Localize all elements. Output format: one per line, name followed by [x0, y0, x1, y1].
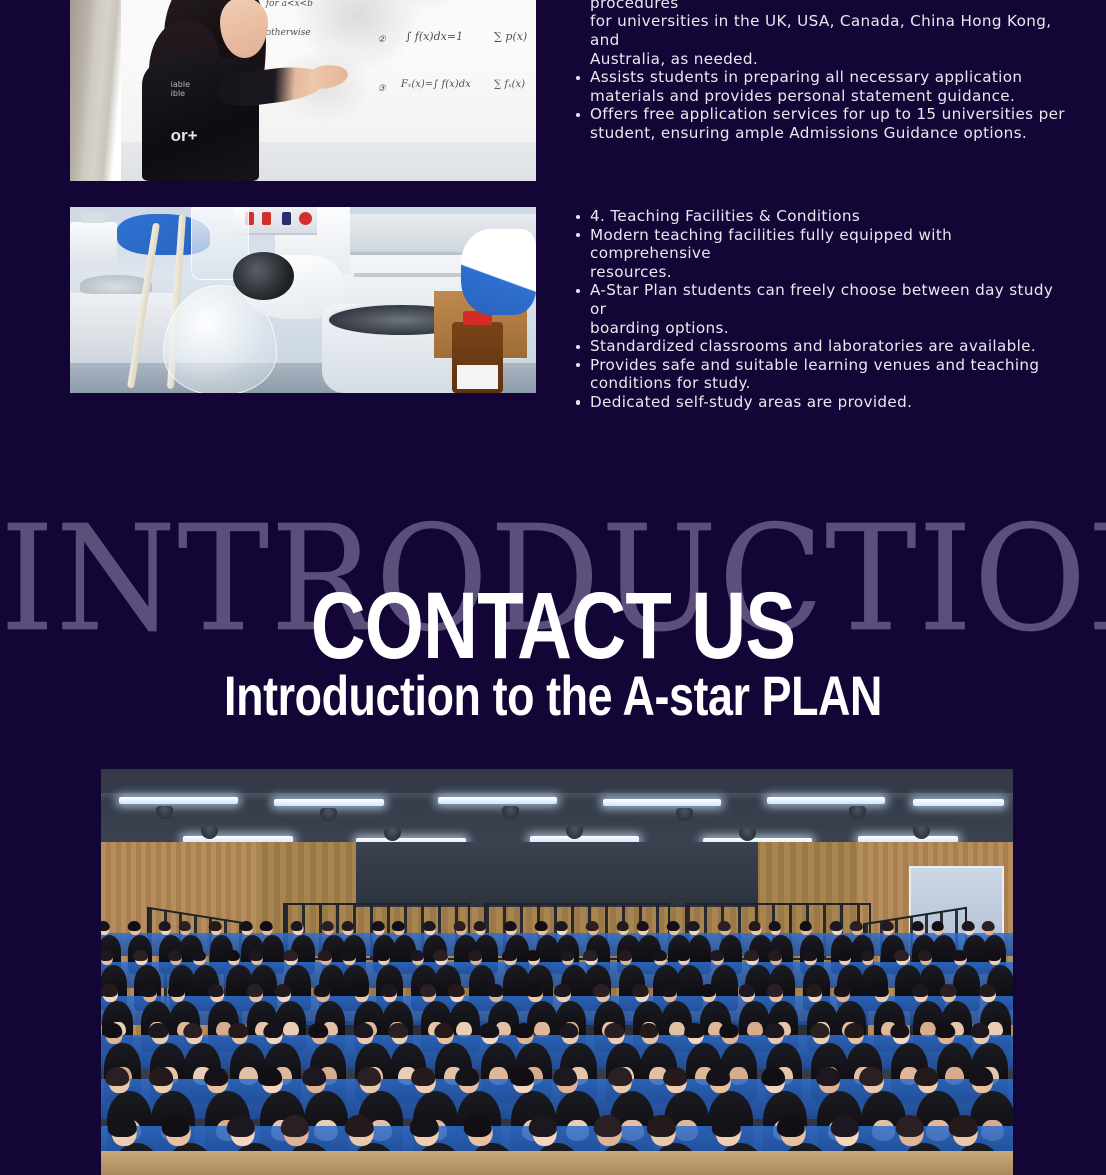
list-item: for universities in the UK, USA, Canada,…: [575, 12, 1065, 49]
list-item: Standardized classrooms and laboratories…: [575, 337, 1065, 356]
section-admissions: Examples. distribution { 1/(b-a) for a<x…: [0, 0, 1106, 181]
list-item: 4. Teaching Facilities & Conditions: [575, 207, 1065, 226]
list-item: resources.: [575, 263, 1065, 282]
list-item: Guides students through undergraduate ap…: [575, 0, 1065, 12]
slide-page: Examples. distribution { 1/(b-a) for a<x…: [0, 0, 1106, 1171]
section-facilities: 4. Teaching Facilities & Conditions Mode…: [0, 207, 1106, 412]
admissions-bullet-list: provide detailed one-on-one admissions p…: [575, 0, 1065, 143]
page-subtitle: Introduction to the A-star PLAN: [111, 668, 996, 724]
admissions-text-column: provide detailed one-on-one admissions p…: [575, 0, 1106, 143]
list-item: conditions for study.: [575, 374, 1065, 393]
admissions-photo-column: Examples. distribution { 1/(b-a) for a<x…: [70, 0, 536, 181]
list-item: Dedicated self-study areas are provided.: [575, 393, 1065, 412]
student-group-auditorium-photo: [101, 769, 1013, 1175]
chemistry-laboratory-photo: [70, 207, 536, 393]
list-item: A-Star Plan students can freely choose b…: [575, 281, 1065, 318]
list-item: Modern teaching facilities fully equippe…: [575, 226, 1065, 263]
list-item: Australia, as needed.: [575, 50, 1065, 69]
page-title: CONTACT US: [111, 579, 996, 674]
facilities-text-column: 4. Teaching Facilities & Conditions Mode…: [575, 207, 1106, 412]
list-item: Provides safe and suitable learning venu…: [575, 356, 1065, 375]
teacher-at-whiteboard-photo: Examples. distribution { 1/(b-a) for a<x…: [70, 0, 536, 181]
list-item: boarding options.: [575, 319, 1065, 338]
hero-section: INTRODUCTION CONTACT US Introduction to …: [0, 500, 1106, 740]
list-item: Assists students in preparing all necess…: [575, 68, 1065, 87]
list-item: materials and provides personal statemen…: [575, 87, 1065, 106]
list-item: student, ensuring ample Admissions Guida…: [575, 124, 1065, 143]
facilities-bullet-list: 4. Teaching Facilities & Conditions Mode…: [575, 207, 1065, 412]
list-item: Offers free application services for up …: [575, 105, 1065, 124]
facilities-photo-column: [70, 207, 536, 393]
